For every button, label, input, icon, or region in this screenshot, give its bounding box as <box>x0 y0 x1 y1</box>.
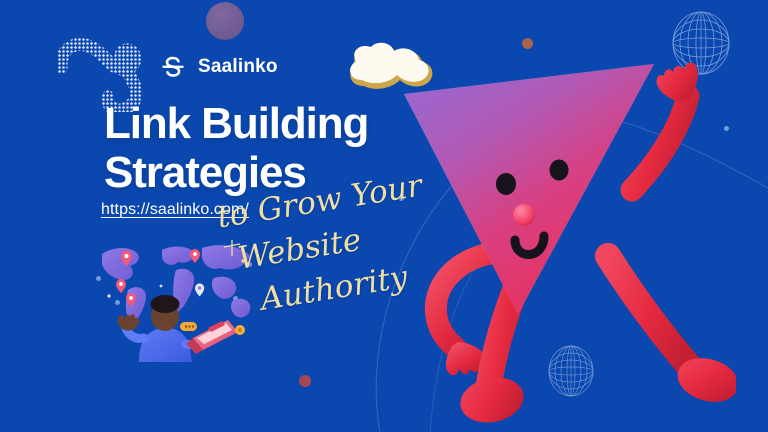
banner-canvas: Saalinko Link Building Strategies https:… <box>0 0 768 432</box>
script-subtitle: to Grow Your Website Authority <box>214 163 446 354</box>
brand-name: Saalinko <box>198 56 278 78</box>
red-dot-shape <box>299 375 311 387</box>
left-eye <box>496 173 516 195</box>
orange-dot-shape <box>522 38 533 49</box>
nose <box>513 204 535 226</box>
purple-circle-shape <box>206 2 244 40</box>
s-monogram-icon <box>158 52 188 82</box>
right-eye <box>550 160 569 181</box>
right-leg <box>608 256 736 409</box>
headline-line-1: Link Building <box>104 99 368 148</box>
3d-triangle-mascot <box>396 60 736 432</box>
brand-logo[interactable]: Saalinko <box>158 52 278 82</box>
